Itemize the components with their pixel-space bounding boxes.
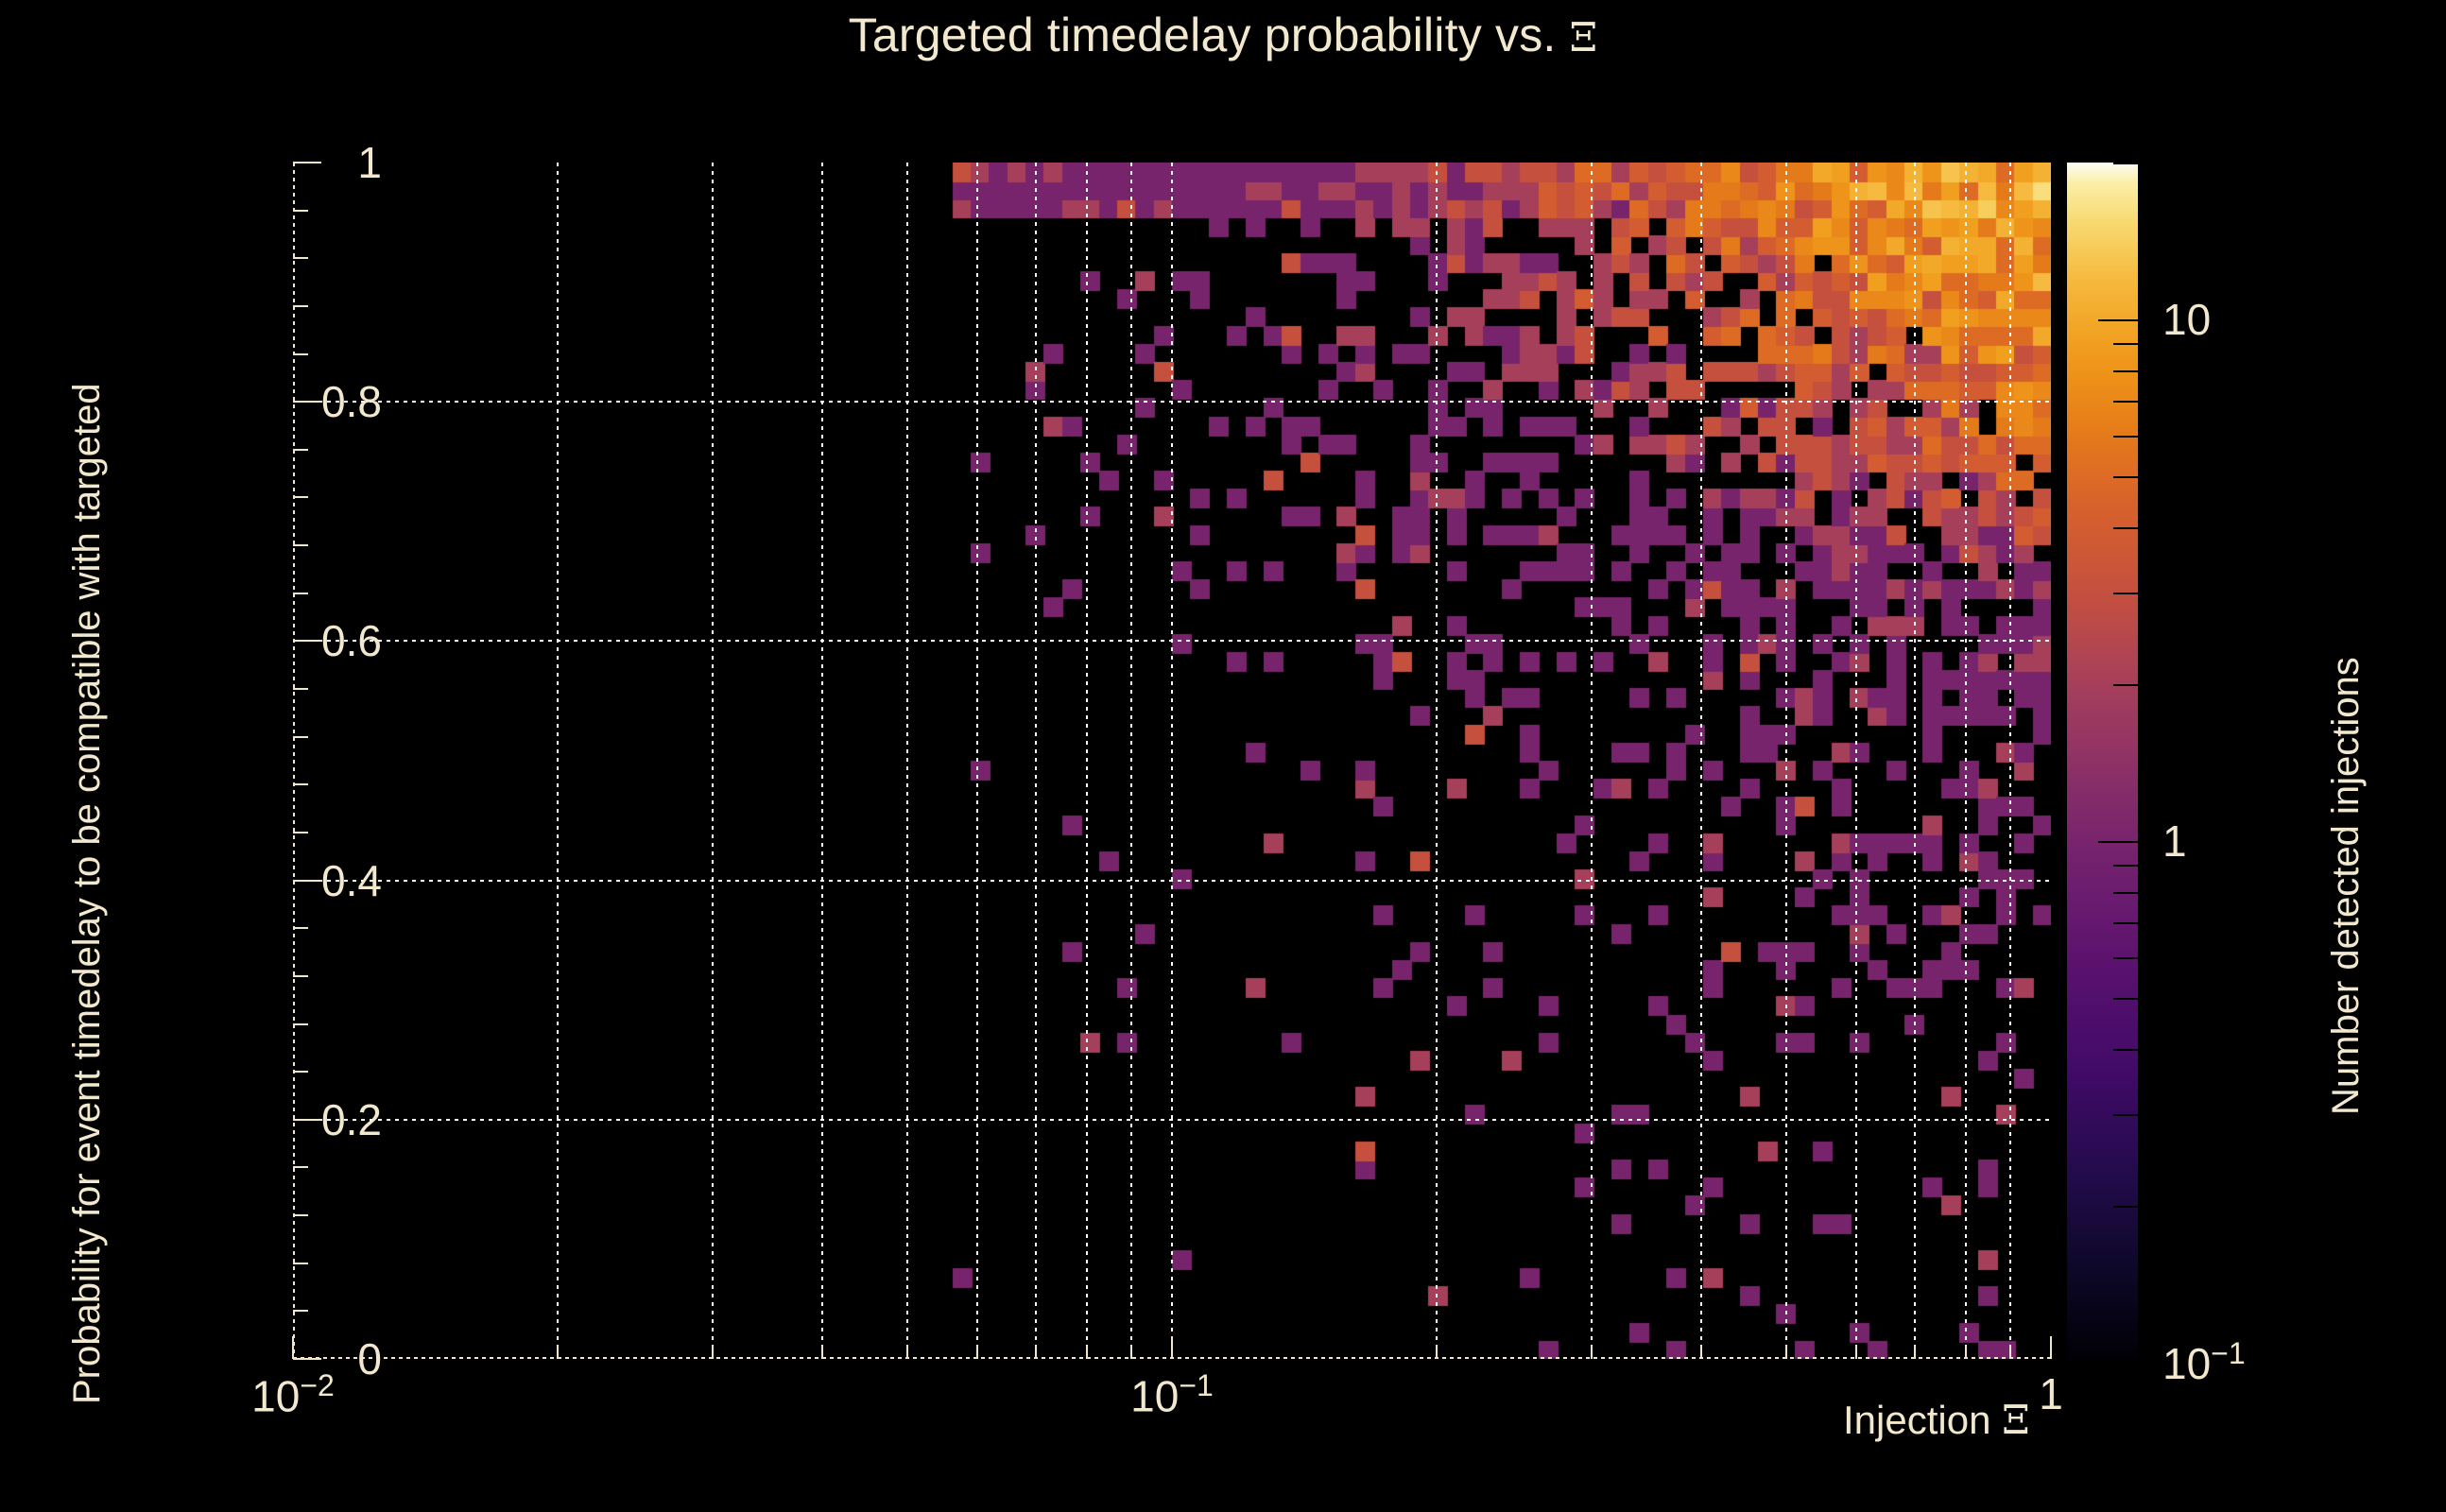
colorbar-tick-mantissa: 10: [2162, 295, 2211, 344]
x-minor-gridline: [1914, 163, 1916, 1359]
x-minor-gridline: [712, 163, 714, 1359]
y-minor-tick: [293, 1166, 308, 1168]
colorbar-tick-label: 10: [2162, 294, 2211, 345]
x-minor-gridline: [1130, 163, 1132, 1359]
x-minor-gridline: [1035, 163, 1037, 1359]
y-minor-tick: [293, 305, 308, 307]
x-tick-label: 10−2: [251, 1368, 335, 1421]
y-axis-line: [293, 163, 295, 1359]
x-minor-gridline: [1700, 163, 1702, 1359]
x-tick-exponent: −1: [1179, 1368, 1213, 1402]
y-minor-tick: [293, 688, 308, 690]
colorbar-tick: [2113, 922, 2138, 924]
x-minor-gridline: [1591, 163, 1593, 1359]
y-minor-tick: [293, 544, 308, 546]
x-gridline: [1171, 163, 1173, 1359]
x-minor-gridline: [1965, 163, 1967, 1359]
colorbar-title: Number detected injections: [2325, 657, 2368, 1115]
colorbar-tick: [2098, 841, 2138, 843]
y-minor-tick: [293, 496, 308, 498]
y-minor-tick: [293, 353, 308, 355]
y-major-tick: [293, 640, 321, 642]
x-axis-xi-symbol: Ξ: [2002, 1397, 2030, 1443]
y-major-tick: [293, 880, 321, 882]
y-minor-tick: [293, 593, 308, 594]
colorbar-tick: [2113, 1114, 2138, 1116]
colorbar-tick: [2113, 476, 2138, 478]
y-minor-tick: [293, 1263, 308, 1264]
x-minor-gridline: [1086, 163, 1088, 1359]
y-gridline: [293, 401, 2051, 403]
y-minor-tick: [293, 1214, 308, 1216]
colorbar-tick: [2113, 998, 2138, 1000]
y-major-tick: [293, 162, 321, 163]
x-minor-gridline: [906, 163, 908, 1359]
colorbar-tick-label: 1: [2162, 816, 2187, 867]
y-gridline: [293, 1119, 2051, 1121]
x-axis-title-text: Injection: [1843, 1398, 2002, 1442]
y-tick-label: 0.2: [321, 1094, 382, 1145]
y-major-tick: [293, 401, 321, 403]
x-tick-mantissa: 10: [1130, 1371, 1179, 1420]
y-minor-tick: [293, 1071, 308, 1073]
y-minor-tick: [293, 975, 308, 977]
x-axis-title: Injection Ξ: [1843, 1397, 2030, 1443]
colorbar-tick: [2113, 436, 2138, 438]
x-minor-gridline: [821, 163, 823, 1359]
colorbar-tick: [2113, 401, 2138, 403]
x-minor-gridline: [1785, 163, 1787, 1359]
x-minor-gridline: [1855, 163, 1857, 1359]
x-tick-mantissa: 1: [2039, 1369, 2063, 1418]
colorbar-tick: [2113, 163, 2138, 164]
y-minor-tick: [293, 832, 308, 833]
colorbar-tick: [2113, 370, 2138, 372]
x-tick-label: 10−1: [1130, 1368, 1214, 1421]
y-minor-tick: [293, 927, 308, 929]
colorbar-tick: [2113, 343, 2138, 345]
page-title: Targeted timedelay probability vs. Ξ: [0, 8, 2446, 62]
colorbar-tick: [2113, 1049, 2138, 1051]
colorbar-tick: [2113, 684, 2138, 686]
y-minor-tick: [293, 783, 308, 785]
x-minor-gridline: [2009, 163, 2011, 1359]
colorbar-tick: [2113, 593, 2138, 594]
x-minor-gridline: [557, 163, 559, 1359]
y-minor-tick: [293, 1023, 308, 1025]
x-major-tick: [2050, 1336, 2052, 1359]
y-minor-tick: [293, 210, 308, 212]
y-axis-title: Probability for event timedelay to be co…: [66, 383, 109, 1404]
colorbar-tick: [2098, 319, 2138, 321]
page-title-text: Targeted timedelay probability vs.: [849, 9, 1570, 61]
colorbar-tick-exponent: −1: [2211, 1336, 2245, 1370]
y-gridline: [293, 880, 2051, 882]
colorbar-tick: [2098, 1363, 2138, 1365]
title-xi-symbol: Ξ: [1570, 14, 1598, 60]
y-gridline: [293, 640, 2051, 642]
y-minor-tick: [293, 1310, 308, 1312]
x-minor-gridline: [976, 163, 978, 1359]
colorbar-tick: [2113, 892, 2138, 894]
colorbar-tick: [2113, 1206, 2138, 1208]
x-axis-line: [293, 1357, 2051, 1359]
colorbar-tick: [2113, 527, 2138, 529]
y-minor-tick: [293, 736, 308, 738]
y-tick-label: 1: [357, 137, 382, 188]
colorbar: [2067, 163, 2138, 1363]
y-minor-tick: [293, 449, 308, 451]
colorbar-tick-label: 10−1: [2162, 1336, 2246, 1389]
y-tick-label: 0.8: [321, 376, 382, 427]
colorbar-tick-mantissa: 10: [2162, 1339, 2211, 1388]
colorbar-tick-mantissa: 1: [2162, 816, 2187, 866]
colorbar-tick: [2113, 957, 2138, 959]
x-tick-exponent: −2: [300, 1368, 334, 1402]
plot-area: [293, 163, 2051, 1359]
y-minor-tick: [293, 257, 308, 259]
x-major-tick: [1171, 1336, 1173, 1359]
x-tick-label: 1: [2039, 1368, 2063, 1419]
y-major-tick: [293, 1119, 321, 1121]
y-tick-label: 0.4: [321, 855, 382, 906]
colorbar-tick: [2113, 865, 2138, 867]
x-tick-mantissa: 10: [251, 1371, 300, 1420]
y-tick-label: 0: [357, 1333, 382, 1384]
x-minor-gridline: [1436, 163, 1438, 1359]
y-tick-label: 0.6: [321, 615, 382, 666]
